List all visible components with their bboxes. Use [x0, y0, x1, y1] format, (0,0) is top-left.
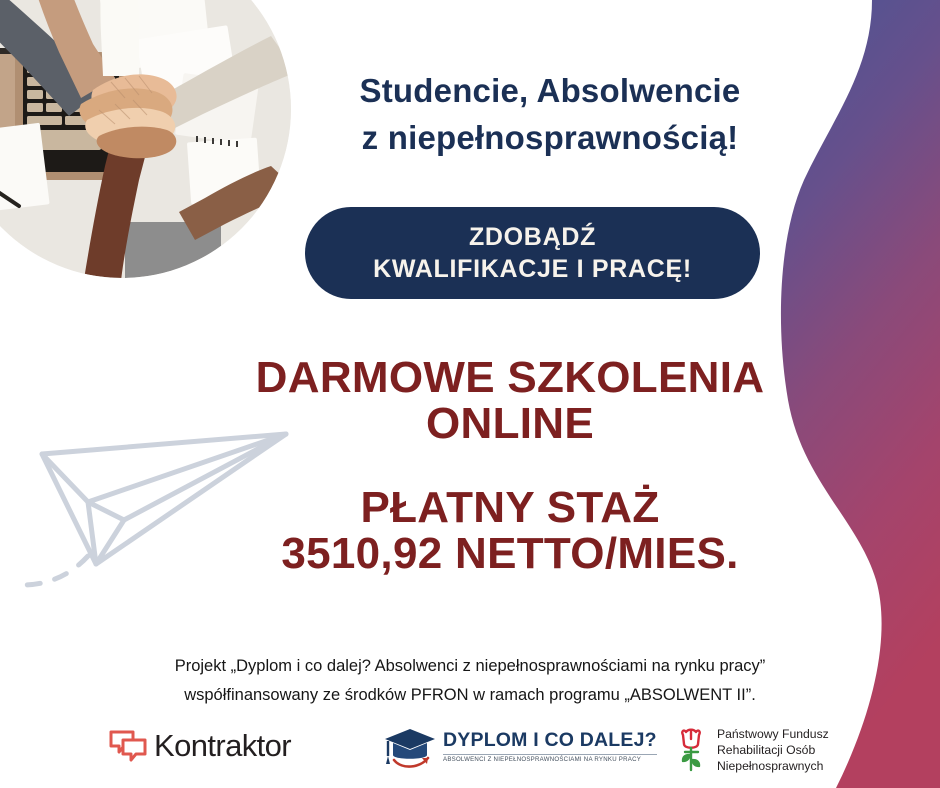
headline-line-2: z niepełnosprawnością!	[290, 115, 810, 162]
logo-pfron-line-2: Rehabilitacji Osób	[717, 742, 829, 758]
logo-pfron-line-1: Państwowy Fundusz	[717, 726, 829, 742]
graduation-cap-icon	[382, 724, 438, 770]
offer-internship-line-1: PŁATNY STAŻ	[190, 485, 830, 531]
cta-line-1: ZDOBĄDŹ	[469, 221, 596, 253]
cta-button[interactable]: ZDOBĄDŹ KWALIFIKACJE I PRACĘ!	[305, 207, 760, 299]
logo-pfron-text: Państwowy Fundusz Rehabilitacji Osób Nie…	[717, 726, 829, 774]
logo-dyplom-subtitle: ABSOLWENCI Z NIEPEŁNOSPRAWNOŚCIAMI NA RY…	[443, 757, 657, 763]
page-title: Studencie, Absolwencie z niepełnosprawno…	[290, 68, 810, 162]
offer-internship: PŁATNY STAŻ 3510,92 NETTO/MIES.	[190, 485, 830, 577]
footer-note-line-2: współfinansowany ze środków PFRON w rama…	[70, 681, 870, 710]
team-photo	[0, 0, 291, 278]
footer-note-line-1: Projekt „Dyplom i co dalej? Absolwenci z…	[70, 652, 870, 681]
logo-pfron-line-3: Niepełnosprawnych	[717, 758, 829, 774]
logo-pfron: Państwowy Fundusz Rehabilitacji Osób Nie…	[674, 726, 829, 774]
cta-line-2: KWALIFIKACJE I PRACĘ!	[373, 253, 692, 285]
logo-kontraktor: Kontraktor	[108, 728, 291, 764]
logo-kontraktor-label: Kontraktor	[154, 728, 291, 764]
speech-bubbles-icon	[108, 729, 148, 763]
logo-row: Kontraktor DYPLOM I CO DALEJ? ABSOLWENCI…	[90, 718, 850, 780]
offer-training-line-2: ONLINE	[190, 401, 830, 447]
offer-training-line-1: DARMOWE SZKOLENIA	[190, 355, 830, 401]
headline-line-1: Studencie, Absolwencie	[360, 72, 741, 109]
promotional-poster: Studencie, Absolwencie z niepełnosprawno…	[0, 0, 940, 788]
offer-training: DARMOWE SZKOLENIA ONLINE	[190, 355, 830, 447]
tulip-icon	[674, 726, 710, 774]
logo-dyplom-title: DYPLOM I CO DALEJ?	[443, 731, 657, 751]
offer-internship-line-2: 3510,92 NETTO/MIES.	[190, 531, 830, 577]
logo-dyplom-divider	[443, 754, 657, 755]
footer-note: Projekt „Dyplom i co dalej? Absolwenci z…	[70, 652, 870, 710]
logo-dyplom: DYPLOM I CO DALEJ? ABSOLWENCI Z NIEPEŁNO…	[382, 724, 657, 770]
